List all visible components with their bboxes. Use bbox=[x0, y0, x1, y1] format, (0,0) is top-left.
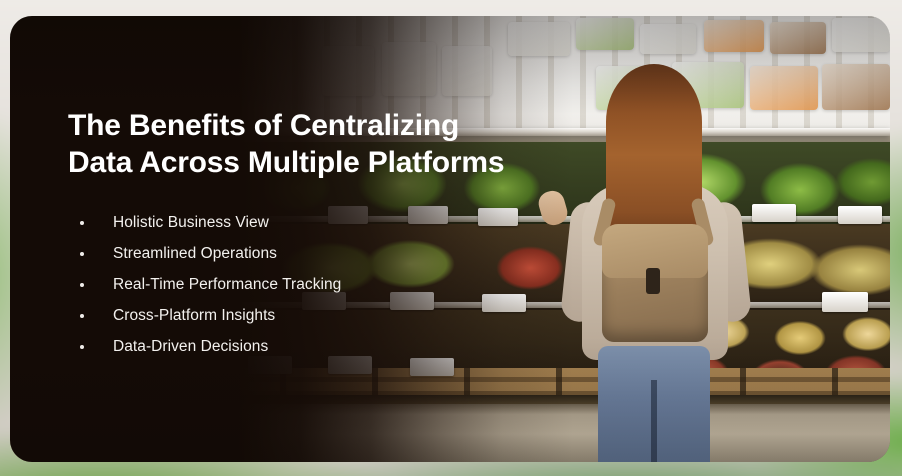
banner-content: The Benefits of Centralizing Data Across… bbox=[68, 108, 588, 362]
list-item-label: Cross-Platform Insights bbox=[113, 307, 275, 325]
list-item-label: Holistic Business View bbox=[113, 214, 269, 232]
list-item-label: Streamlined Operations bbox=[113, 245, 277, 263]
bullet-dot-icon bbox=[80, 345, 84, 349]
hero-card: The Benefits of Centralizing Data Across… bbox=[10, 16, 890, 462]
bullet-dot-icon bbox=[80, 252, 84, 256]
banner-headline: The Benefits of Centralizing Data Across… bbox=[68, 108, 588, 181]
list-item: Real-Time Performance Tracking bbox=[68, 269, 588, 300]
bullet-dot-icon bbox=[80, 283, 84, 287]
list-item: Holistic Business View bbox=[68, 207, 588, 238]
list-item: Cross-Platform Insights bbox=[68, 300, 588, 331]
list-item-label: Real-Time Performance Tracking bbox=[113, 276, 341, 294]
list-item: Streamlined Operations bbox=[68, 238, 588, 269]
list-item: Data-Driven Decisions bbox=[68, 331, 588, 362]
banner-page: The Benefits of Centralizing Data Across… bbox=[0, 0, 902, 476]
bullet-dot-icon bbox=[80, 314, 84, 318]
bullet-dot-icon bbox=[80, 221, 84, 225]
benefits-list: Holistic Business View Streamlined Opera… bbox=[68, 207, 588, 362]
list-item-label: Data-Driven Decisions bbox=[113, 338, 268, 356]
